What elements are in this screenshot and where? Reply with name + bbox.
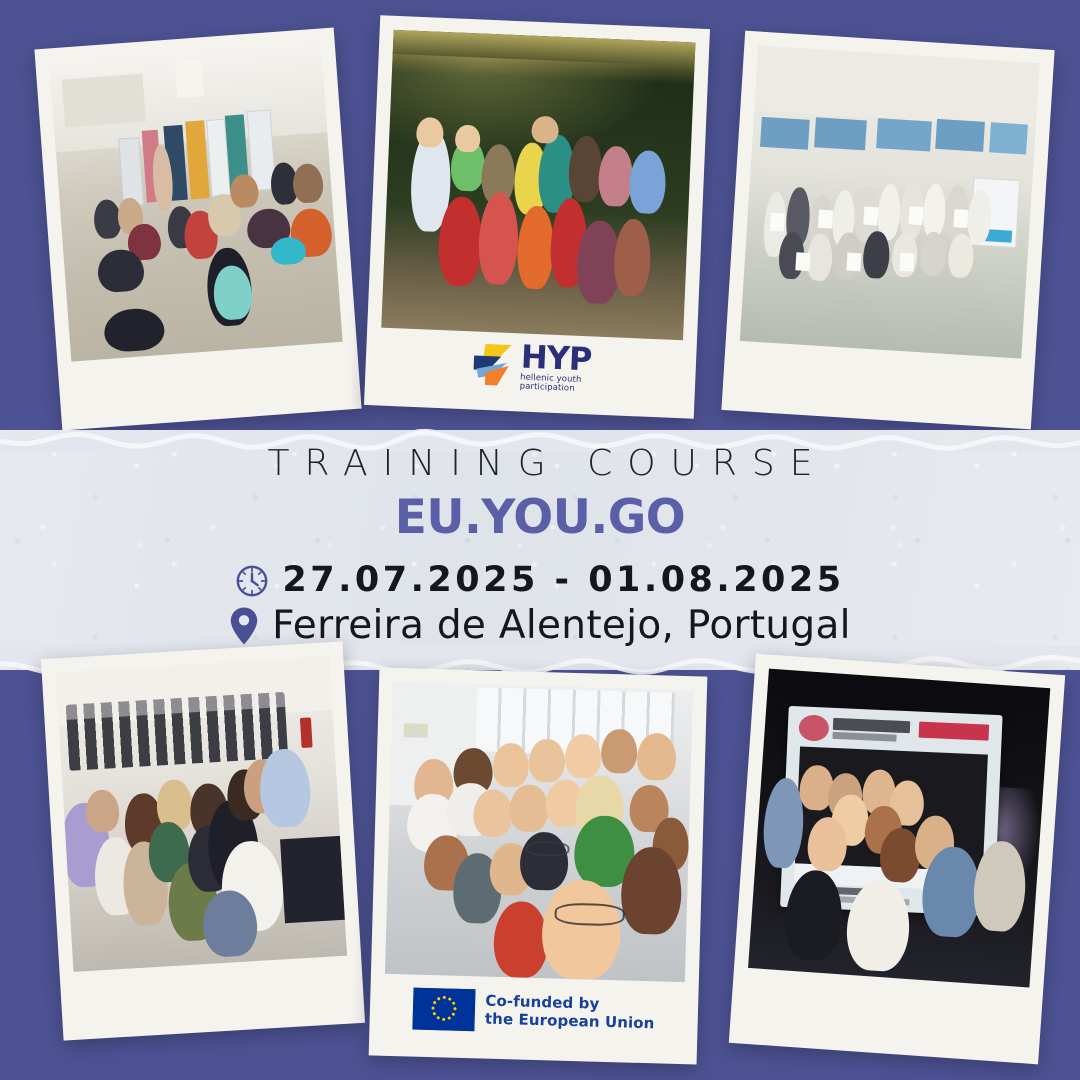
heading-kicker: TRAINING COURSE (15, 446, 1080, 482)
photo-content (49, 43, 342, 362)
event-dates: 27.07.2025 - 01.08.2025 (282, 563, 844, 598)
photo-evening-group (381, 30, 695, 340)
polaroid-photo-workshop-hall (34, 28, 361, 431)
hyp-logo: HYP hellenic youth participation (470, 338, 592, 393)
location-pin-icon (229, 606, 259, 646)
photo-content (56, 656, 347, 972)
photo-content (740, 45, 1040, 358)
clock-icon (235, 564, 269, 598)
polaroid-photo-noite-branca (729, 654, 1065, 1065)
location-row: Ferreira de Alentejo, Portugal (0, 605, 1080, 648)
photo-group-hug (56, 656, 347, 972)
photo-group-selfie (385, 682, 693, 982)
photo-noite-branca (748, 669, 1050, 988)
photo-workshop-hall (49, 43, 342, 362)
polaroid-photo-group-selfie: Co-funded by the European Union (369, 667, 708, 1064)
hyp-name: HYP (520, 340, 592, 375)
photo-content (385, 682, 693, 982)
eu-flag-icon (413, 988, 476, 1032)
photo-certificates (740, 45, 1040, 358)
hyp-chevron-icon (470, 341, 518, 387)
hyp-subtitle: hellenic youth participation (520, 373, 591, 393)
date-row: 27.07.2025 - 01.08.2025 (0, 563, 1080, 598)
page-title: EU.YOU.GO (0, 494, 1080, 541)
polaroid-photo-group-hug (41, 641, 365, 1040)
eu-funding-logo: Co-funded by the European Union (413, 988, 656, 1037)
polaroid-photo-certificates (721, 31, 1054, 430)
hyp-wordmark: HYP hellenic youth participation (520, 340, 592, 393)
polaroid-caption-eu: Co-funded by the European Union (369, 959, 700, 1064)
poster-text-block: TRAINING COURSE EU.YOU.GO (0, 446, 1080, 648)
eu-funding-text: Co-funded by the European Union (485, 993, 656, 1033)
photo-content (748, 669, 1050, 988)
polaroid-caption-hyp: HYP hellenic youth participation (364, 313, 698, 419)
polaroid-photo-evening-group: HYP hellenic youth participation (364, 15, 710, 418)
photo-content (381, 30, 695, 340)
poster-canvas: HYP hellenic youth participation (0, 0, 1080, 1080)
event-location: Ferreira de Alentejo, Portugal (272, 605, 851, 648)
eu-text-line2: the European Union (485, 1011, 655, 1033)
